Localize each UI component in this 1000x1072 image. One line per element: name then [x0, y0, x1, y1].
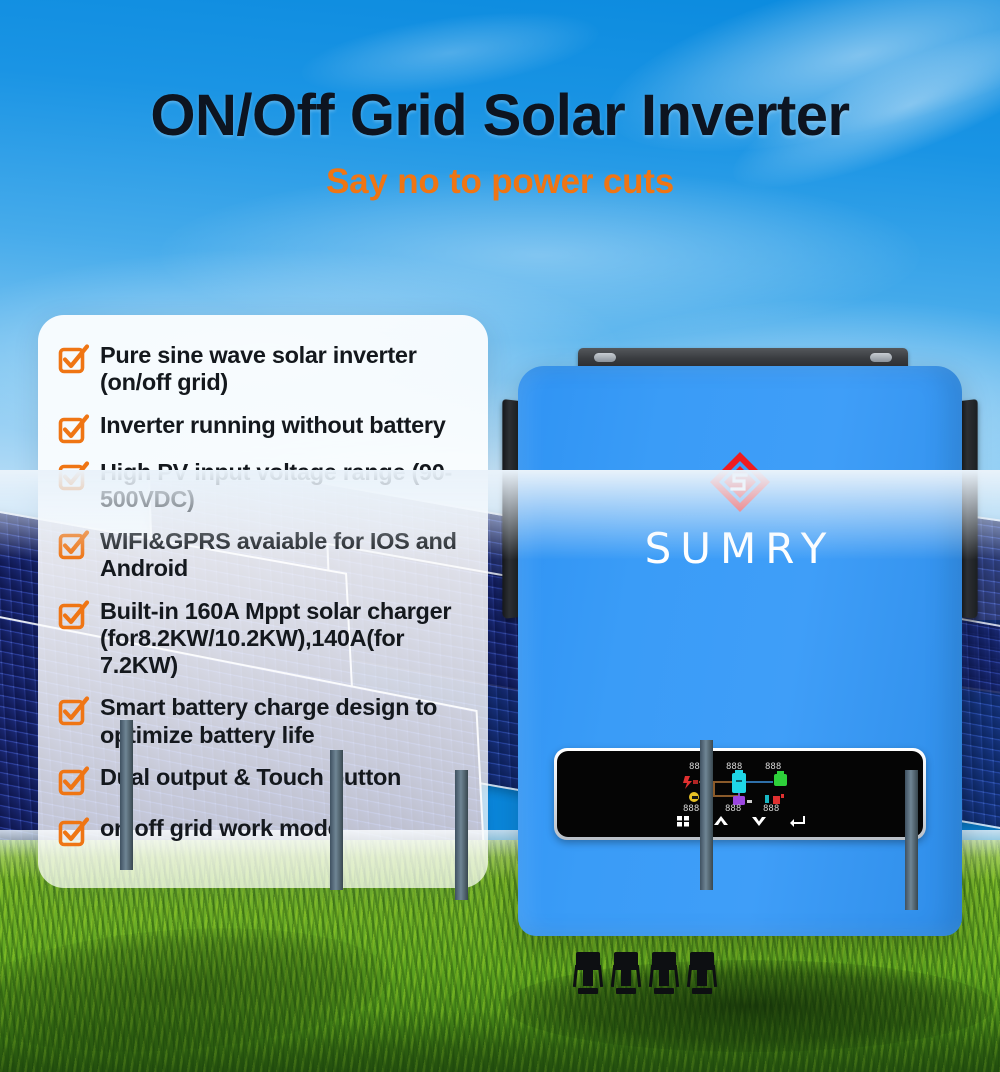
svg-text:888: 888 — [725, 804, 741, 812]
checkbox-checked-icon — [58, 600, 88, 630]
pv-connector — [614, 952, 638, 994]
checkbox-checked-icon — [58, 817, 88, 847]
atmospheric-haze — [0, 470, 1000, 560]
feature-list: Pure sine wave solar inverter (on/off gr… — [56, 341, 470, 847]
panel-support-post — [455, 770, 468, 900]
feature-card: Pure sine wave solar inverter (on/off gr… — [38, 315, 488, 888]
feature-item: on off grid work mode — [56, 814, 470, 847]
energy-flow-diagram: 888 888 888 — [677, 760, 803, 812]
feature-label: Built-in 160A Mppt solar charger (for8.2… — [100, 597, 470, 680]
feature-label: on off grid work mode — [100, 814, 340, 842]
inverter-chassis: SUMRY 888 888 888 — [518, 366, 962, 936]
pv-connector — [690, 952, 714, 994]
touch-button-row — [675, 814, 805, 828]
feature-item: Built-in 160A Mppt solar charger (for8.2… — [56, 597, 470, 680]
panel-support-post — [120, 720, 133, 870]
feature-item: Dual output & Touch button — [56, 763, 470, 796]
lcd-display-bezel: 888 888 888 — [554, 748, 926, 840]
feature-label: Inverter running without battery — [100, 411, 446, 439]
grid-icon[interactable] — [675, 814, 691, 828]
product-poster: ON/Off Grid Solar Inverter Say no to pow… — [0, 0, 1000, 1072]
feature-item: Pure sine wave solar inverter (on/off gr… — [56, 341, 470, 397]
lcd-screen[interactable]: 888 888 888 — [557, 751, 923, 837]
svg-text:888: 888 — [763, 804, 779, 812]
checkbox-checked-icon — [58, 766, 88, 796]
grass-bottom-vignette — [0, 1010, 1000, 1072]
panel-support-post — [700, 740, 713, 890]
chevron-down-icon[interactable] — [751, 814, 767, 828]
bracket-hole — [870, 353, 892, 362]
feature-item: Inverter running without battery — [56, 411, 470, 444]
checkbox-checked-icon — [58, 696, 88, 726]
enter-arrow-icon[interactable] — [789, 814, 805, 828]
checkbox-checked-icon — [58, 414, 88, 444]
feature-item: Smart battery charge design to optimize … — [56, 693, 470, 749]
checkbox-checked-icon — [58, 344, 88, 374]
svg-text:888: 888 — [765, 762, 781, 772]
page-title: ON/Off Grid Solar Inverter — [0, 82, 1000, 149]
panel-support-post — [905, 770, 918, 910]
pv-connector — [652, 952, 676, 994]
panel-support-post — [330, 750, 343, 890]
feature-label: Smart battery charge design to optimize … — [100, 693, 470, 749]
pv-connector — [576, 952, 600, 994]
chevron-up-icon[interactable] — [713, 814, 729, 828]
feature-label: Dual output & Touch button — [100, 763, 401, 791]
dc-connector-group — [576, 952, 756, 996]
feature-label: Pure sine wave solar inverter (on/off gr… — [100, 341, 470, 397]
page-subtitle: Say no to power cuts — [0, 162, 1000, 202]
bracket-hole — [594, 353, 616, 362]
